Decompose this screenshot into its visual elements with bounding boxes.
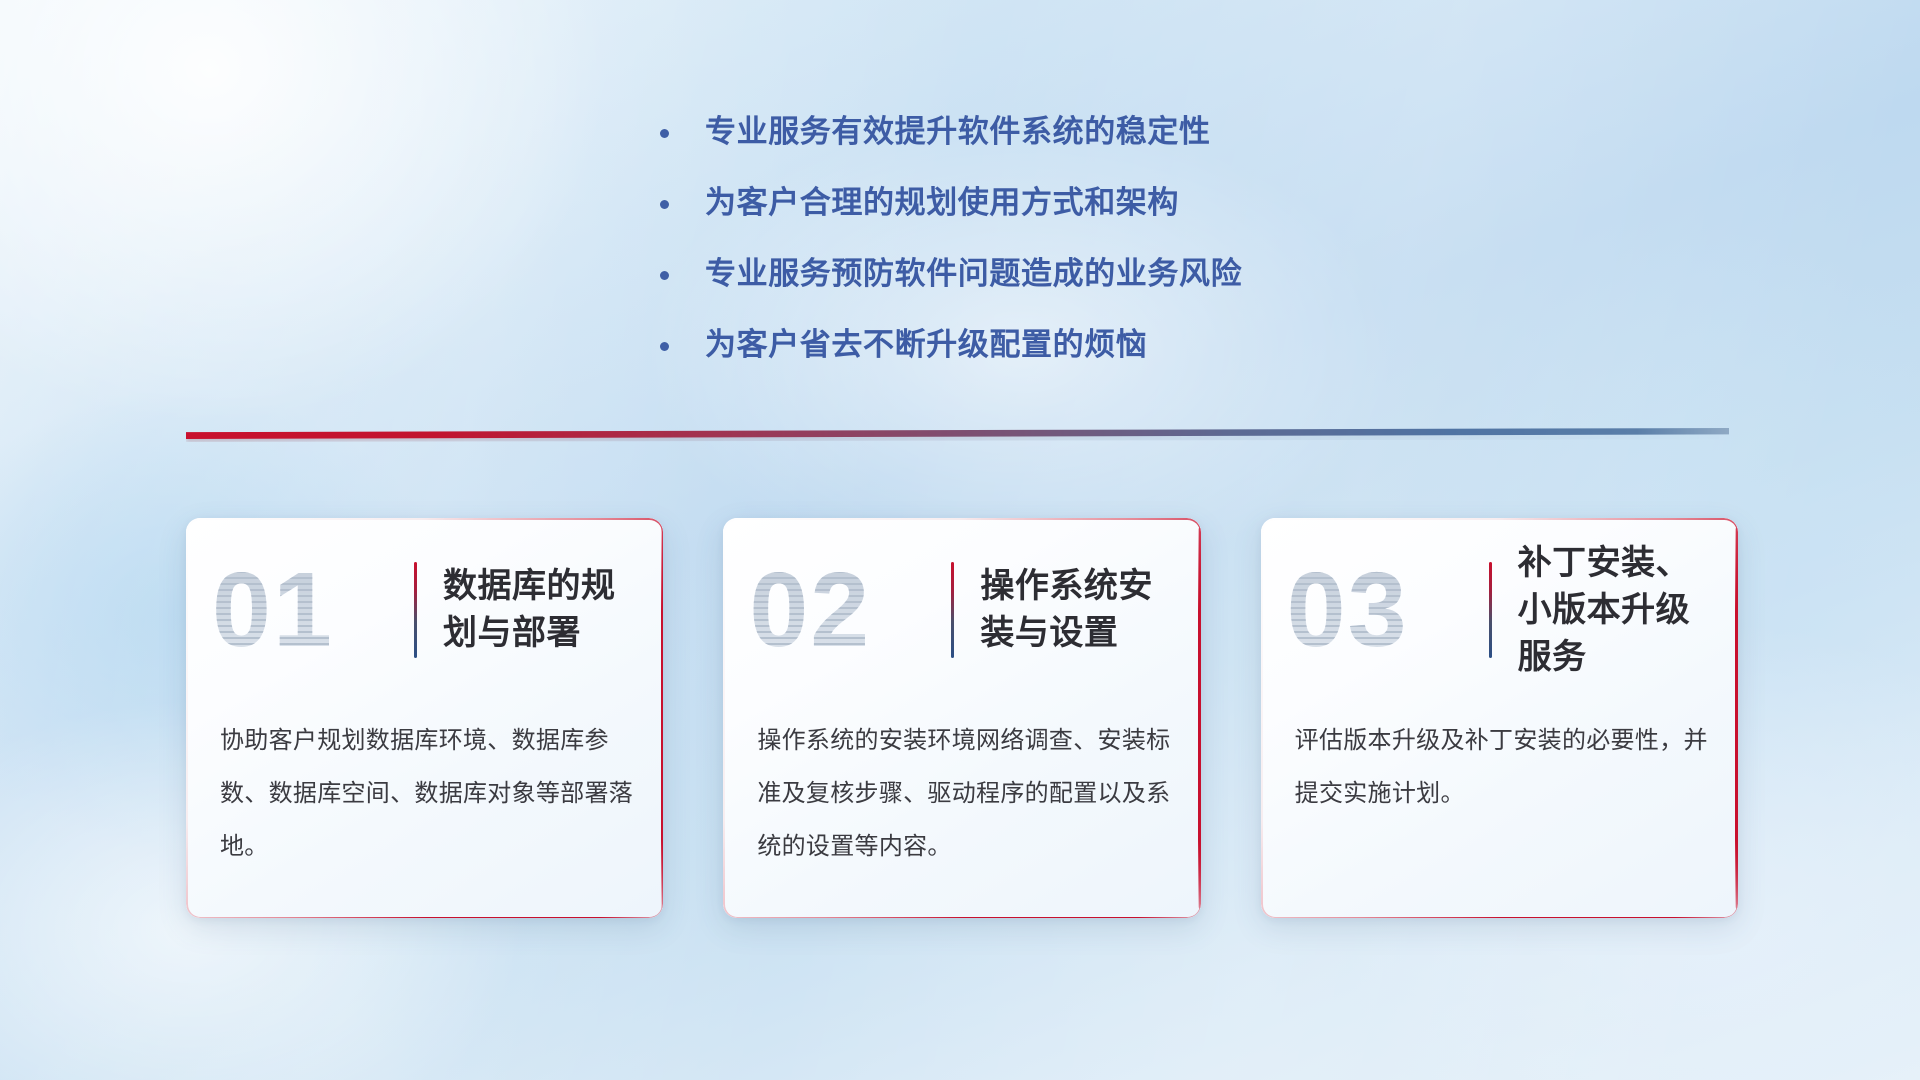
card-number: 02 [749, 557, 949, 663]
bullet-text: 为客户合理的规划使用方式和架构 [705, 183, 1179, 223]
section-divider [186, 428, 1729, 439]
card-number: 01 [212, 557, 412, 663]
bullet-text: 专业服务预防软件问题造成的业务风险 [705, 254, 1242, 294]
list-item: 专业服务有效提升软件系统的稳定性 [660, 112, 1520, 152]
bullet-text: 为客户省去不断升级配置的烦恼 [705, 325, 1147, 365]
card-header: 01 数据库的规划与部署 [186, 544, 663, 676]
service-card-01[interactable]: 01 数据库的规划与部署 协助客户规划数据库环境、数据库参数、数据库空间、数据库… [186, 518, 663, 918]
card-title: 数据库的规划与部署 [443, 563, 639, 657]
card-body-text: 协助客户规划数据库环境、数据库参数、数据库空间、数据库对象等部署落地。 [220, 714, 633, 873]
bullet-dot-icon [660, 200, 669, 209]
card-divider-rule [951, 562, 954, 658]
card-body-text: 评估版本升级及补丁安装的必要性，并提交实施计划。 [1295, 714, 1708, 820]
card-divider-rule [1489, 562, 1492, 658]
card-body-text: 操作系统的安装环境网络调查、安装标准及复核步骤、驱动程序的配置以及系统的设置等内… [757, 714, 1170, 873]
list-item: 为客户合理的规划使用方式和架构 [660, 183, 1520, 223]
list-item: 专业服务预防软件问题造成的业务风险 [660, 254, 1520, 294]
card-title: 操作系统安装与设置 [980, 563, 1176, 657]
list-item: 为客户省去不断升级配置的烦恼 [660, 325, 1520, 365]
bullet-text: 专业服务有效提升软件系统的稳定性 [705, 112, 1211, 152]
card-title: 补丁安装、小版本升级服务 [1518, 540, 1714, 681]
card-header: 02 操作系统安装与设置 [723, 544, 1200, 676]
card-header: 03 补丁安装、小版本升级服务 [1261, 544, 1738, 676]
bullet-dot-icon [660, 129, 669, 138]
service-card-row: 01 数据库的规划与部署 协助客户规划数据库环境、数据库参数、数据库空间、数据库… [186, 518, 1738, 918]
bullet-dot-icon [660, 342, 669, 351]
bullet-dot-icon [660, 271, 669, 280]
card-divider-rule [414, 562, 417, 658]
service-card-03[interactable]: 03 补丁安装、小版本升级服务 评估版本升级及补丁安装的必要性，并提交实施计划。 [1261, 518, 1738, 918]
service-card-02[interactable]: 02 操作系统安装与设置 操作系统的安装环境网络调查、安装标准及复核步骤、驱动程… [723, 518, 1200, 918]
card-number: 03 [1287, 557, 1487, 663]
benefits-bullet-list: 专业服务有效提升软件系统的稳定性 为客户合理的规划使用方式和架构 专业服务预防软… [660, 112, 1520, 396]
